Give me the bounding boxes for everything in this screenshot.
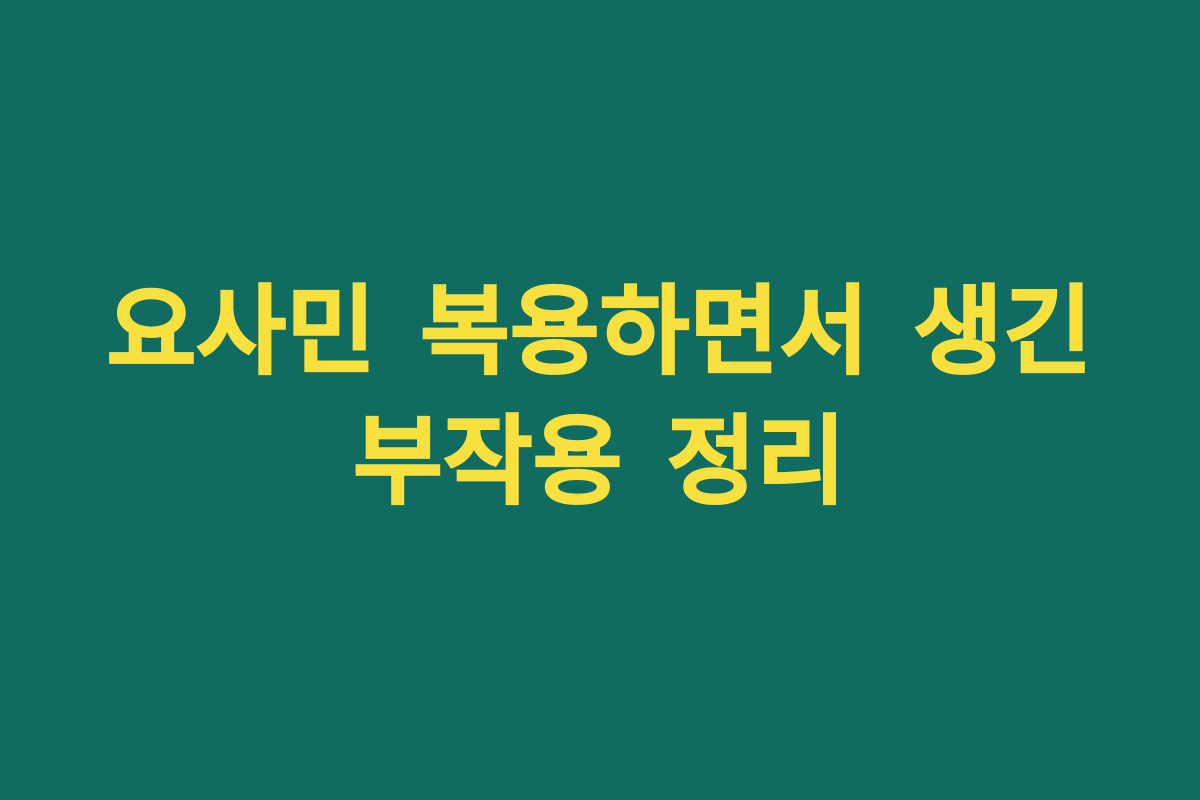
title-line-2: 부작용 정리 [40, 397, 1160, 527]
page-title: 요사민 복용하면서 생긴 부작용 정리 [0, 267, 1200, 527]
title-line-1: 요사민 복용하면서 생긴 [40, 267, 1160, 397]
thumbnail-card: 요사민 복용하면서 생긴 부작용 정리 [0, 0, 1200, 800]
